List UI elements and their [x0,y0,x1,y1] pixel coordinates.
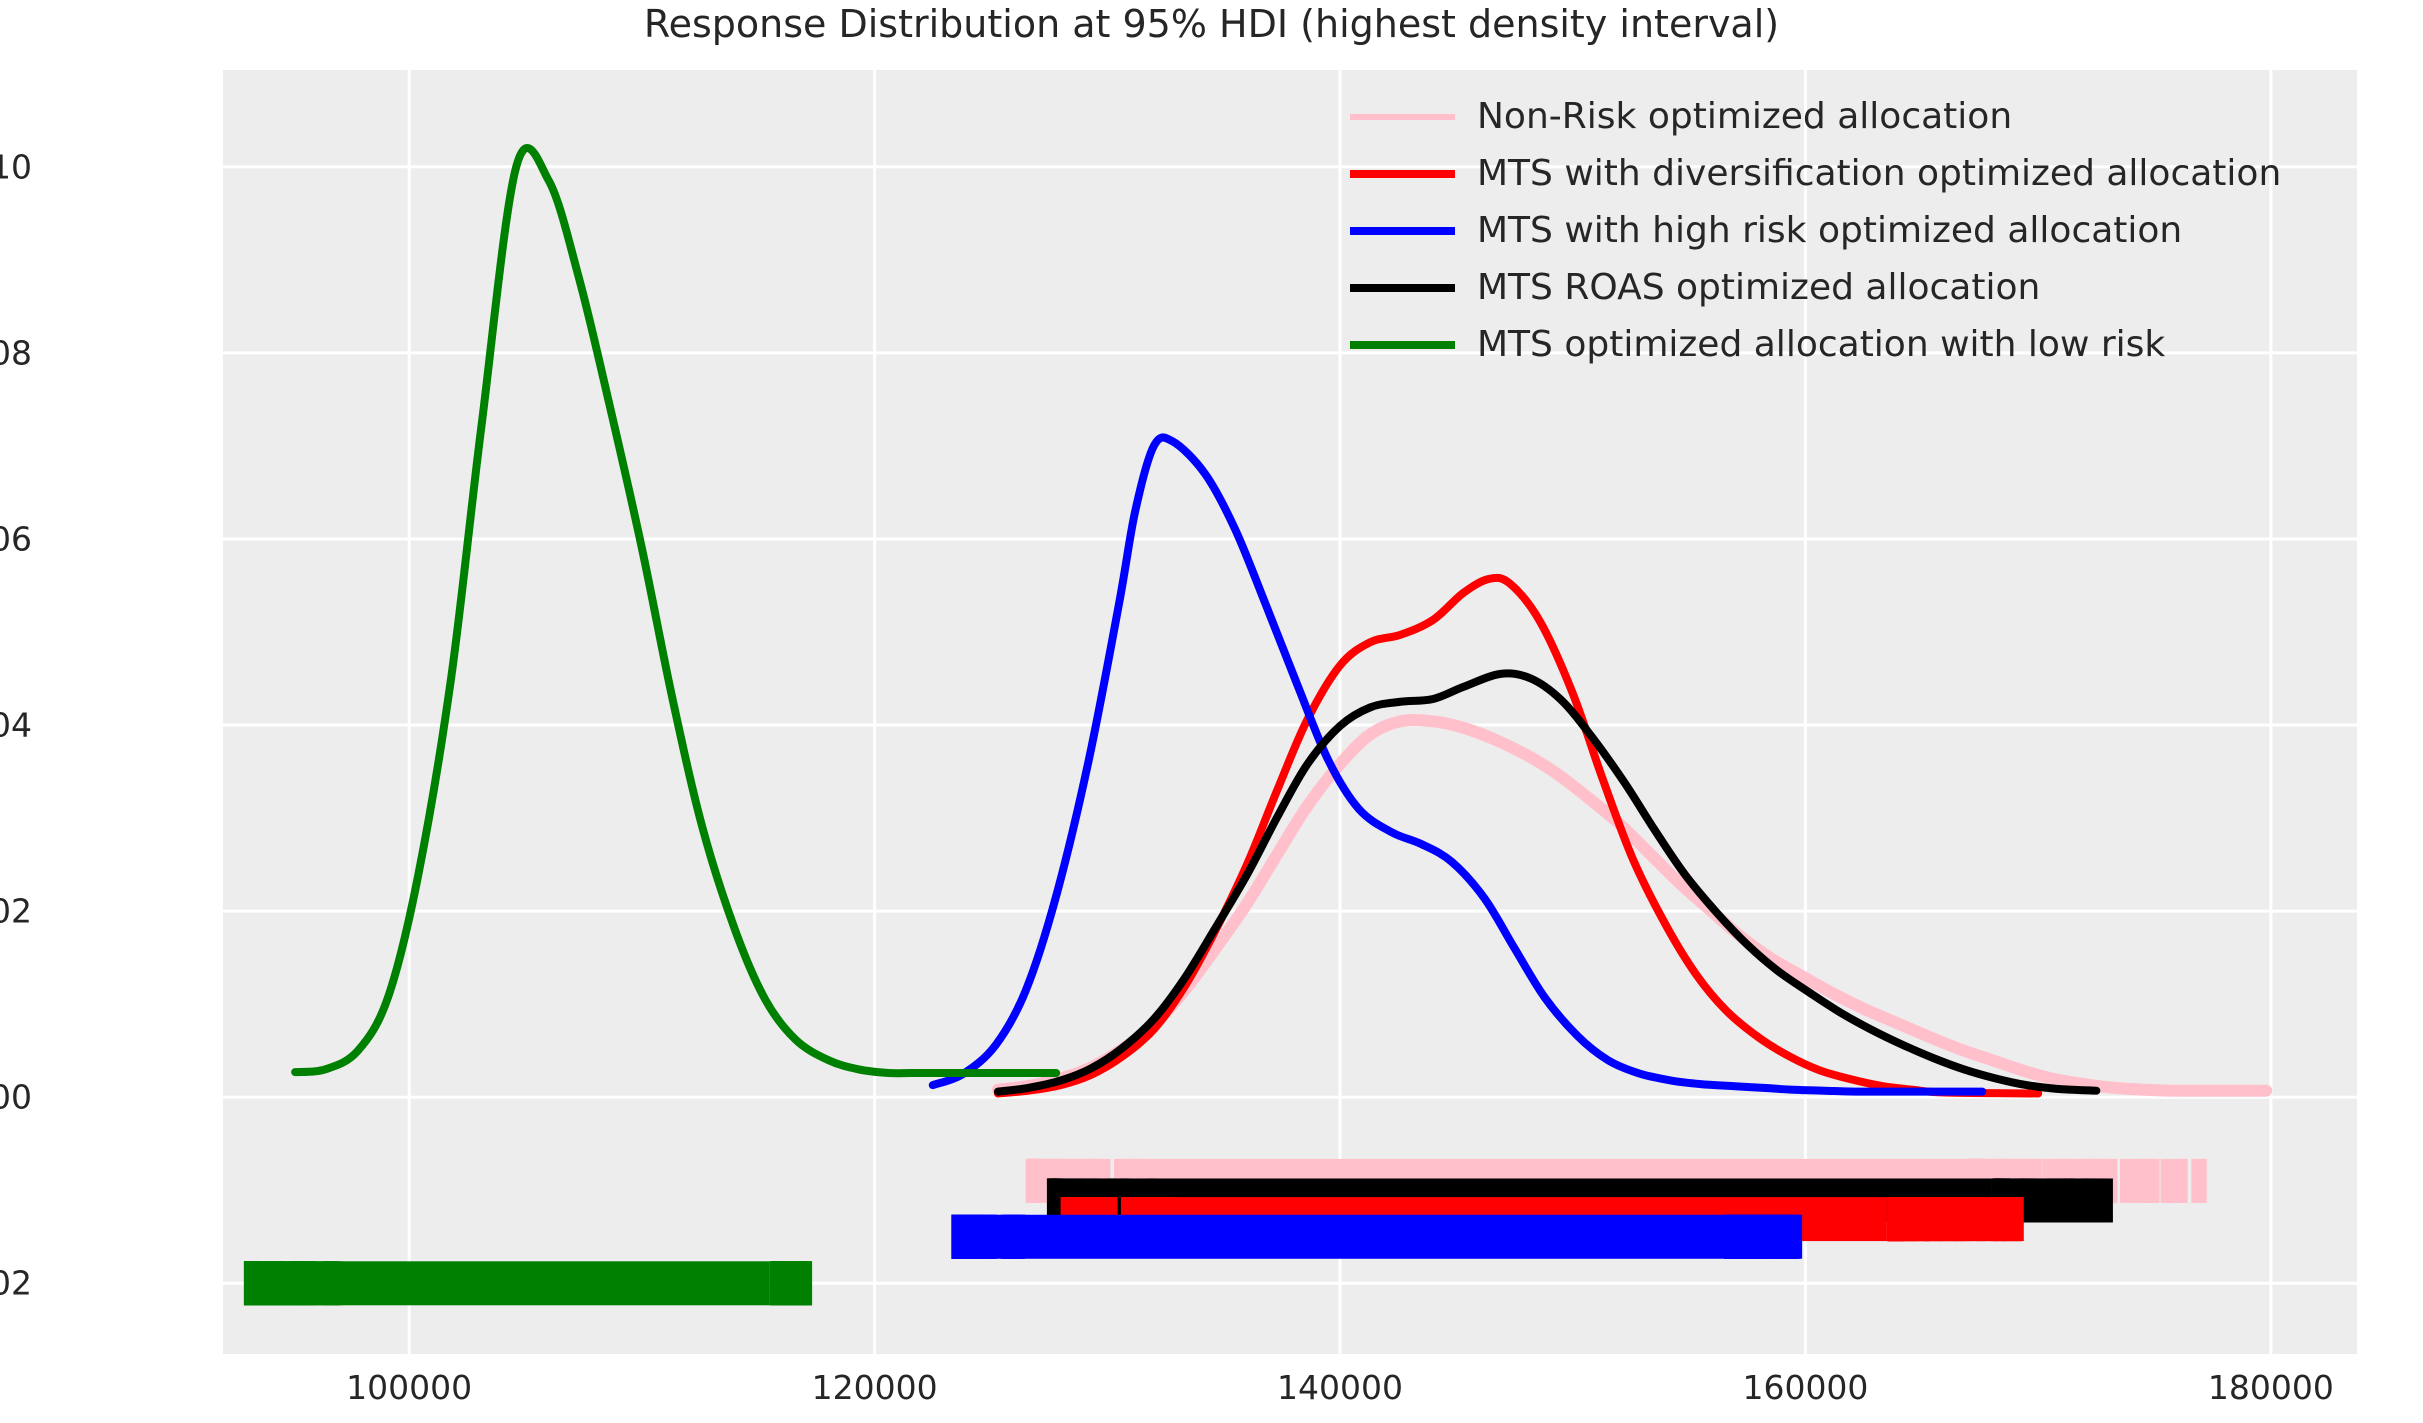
y-axis-tick-label: 0.00010 [0,167,32,206]
legend-item[interactable]: MTS ROAS optimized allocation [1350,259,2370,316]
legend-item-label: MTS with high risk optimized allocation [1477,213,2182,249]
chart-legend: Non-Risk optimized allocationMTS with di… [1350,88,2370,373]
legend-line-swatch [1350,170,1455,178]
legend-item[interactable]: MTS with high risk optimized allocation [1350,202,2370,259]
x-axis-tick-label: 120000 [725,1368,1025,1407]
legend-line-swatch [1350,114,1455,120]
y-axis-tick-label: 0.00002 [0,911,32,950]
x-axis-tick-label: 160000 [1655,1368,1955,1407]
x-axis-tick-label: 180000 [2121,1368,2421,1407]
legend-line-swatch [1350,227,1455,235]
chart-title: Response Distribution at 95% HDI (highes… [0,2,2423,46]
legend-item-label: MTS ROAS optimized allocation [1477,270,2040,306]
y-axis-tick-label: −0.00002 [0,1283,32,1322]
y-axis-tick-label: 0.00006 [0,539,32,578]
legend-item-label: MTS optimized allocation with low risk [1477,327,2165,363]
density-curve [998,720,2266,1091]
y-axis-tick-label: 0.00008 [0,353,32,392]
y-axis-tick-label: 0.00000 [0,1097,32,1136]
legend-item[interactable]: Non-Risk optimized allocation [1350,88,2370,145]
x-axis-tick-label: 100000 [259,1368,559,1407]
density-curve [998,673,2096,1091]
y-axis-tick-label: 0.00004 [0,725,32,764]
x-axis-tick-label: 140000 [1190,1368,1490,1407]
chart-figure: Response Distribution at 95% HDI (highes… [0,0,2423,1423]
legend-line-swatch [1350,341,1455,349]
legend-item-label: MTS with diversification optimized alloc… [1477,156,2281,192]
legend-item[interactable]: MTS with diversification optimized alloc… [1350,145,2370,202]
legend-item[interactable]: MTS optimized allocation with low risk [1350,316,2370,373]
density-curve [295,148,1056,1073]
legend-item-label: Non-Risk optimized allocation [1477,99,2012,135]
legend-line-swatch [1350,284,1455,292]
